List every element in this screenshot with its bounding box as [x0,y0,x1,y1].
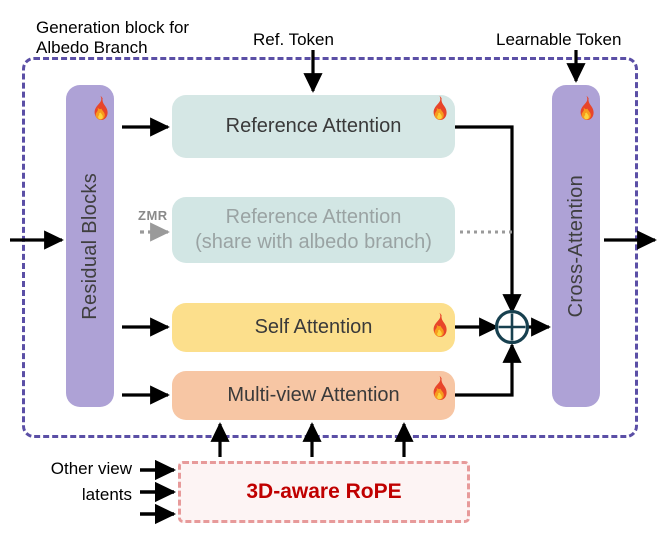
block-self-attention[interactable]: Self Attention [172,303,455,352]
block-cross-attention[interactable]: Cross-Attention [552,85,600,407]
caption-learnable-token: Learnable Token [496,30,621,50]
zmr-label: ZMR [138,208,168,223]
block-reference-attention-shared-label-line1: Reference Attention [226,205,402,230]
diagram-canvas: Generation block for Albedo Branch Ref. … [0,0,662,543]
block-reference-attention-shared-label-line2: (share with albedo branch) [195,230,432,255]
block-residual-blocks-label: Residual Blocks [79,173,102,320]
block-multi-view-attention-label: Multi-view Attention [227,384,399,407]
block-reference-attention-label: Reference Attention [226,115,402,138]
caption-ref-token: Ref. Token [253,30,334,50]
block-cross-attention-label: Cross-Attention [565,175,588,317]
caption-other-view-latents: Other view latents [40,456,132,508]
block-reference-attention[interactable]: Reference Attention [172,95,455,158]
caption-generation-block: Generation block for Albedo Branch [36,18,189,58]
block-3d-aware-rope-label: 3D-aware RoPE [246,480,401,504]
block-self-attention-label: Self Attention [255,316,373,339]
block-residual-blocks[interactable]: Residual Blocks [66,85,114,407]
block-multi-view-attention[interactable]: Multi-view Attention [172,371,455,420]
block-reference-attention-shared[interactable]: Reference Attention (share with albedo b… [172,197,455,263]
block-3d-aware-rope[interactable]: 3D-aware RoPE [178,461,470,523]
